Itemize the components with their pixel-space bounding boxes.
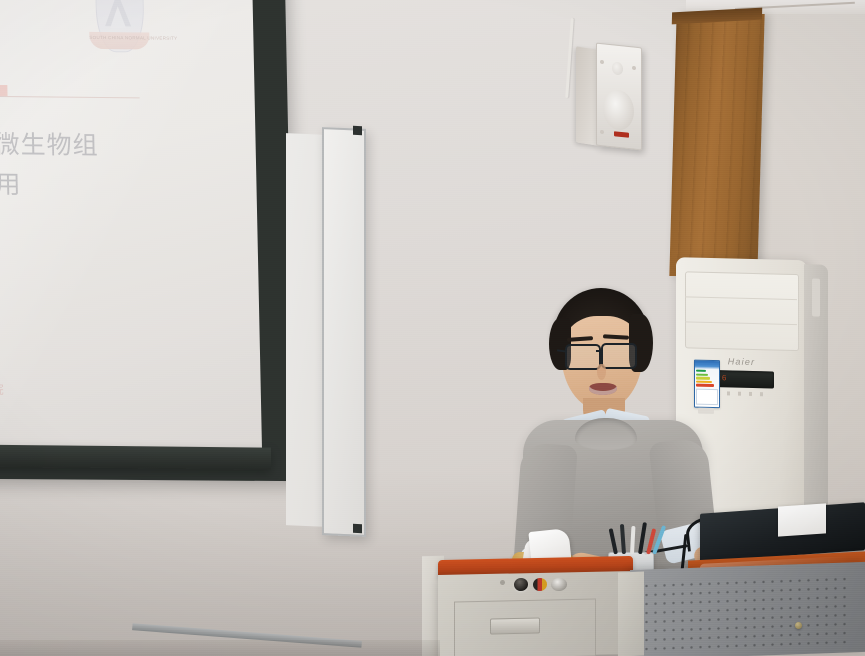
ac-side-vent	[812, 278, 820, 316]
nose	[597, 364, 606, 380]
cabinet-perforation-texture	[642, 574, 852, 655]
mouth	[589, 383, 617, 395]
speaker-tweeter-icon	[612, 61, 623, 75]
projection-screen-bottom-bar	[0, 444, 271, 469]
speaker-screw-icon	[632, 66, 636, 70]
wall-speaker	[576, 42, 646, 147]
whiteboard	[322, 128, 362, 532]
podium-console	[438, 558, 633, 656]
whiteboard-corner-cap	[353, 524, 362, 533]
slide-organization: 大数据研究院	[0, 378, 4, 398]
wood-grain-texture	[669, 14, 764, 276]
wooden-pillar	[669, 14, 764, 276]
glasses-lens-right	[601, 343, 637, 369]
slide-content: 华南师范大学 SOUTH CHINA NORMAL UNIVERSITY 在人体…	[0, 0, 262, 460]
photo-scene: 华南师范大学 SOUTH CHINA NORMAL UNIVERSITY 在人体…	[0, 0, 865, 656]
sweater-neckline	[575, 418, 637, 450]
whiteboard-corner-cap	[353, 126, 362, 135]
shield-chevron-inner-icon	[110, 6, 126, 28]
drawer-handle[interactable]	[490, 617, 540, 634]
whiteboard-left-surface	[286, 133, 326, 527]
paper-sheet	[778, 503, 826, 536]
logo-ribbon-text: SOUTH CHINA NORMAL UNIVERSITY	[89, 35, 149, 41]
slide-accent-bar	[0, 84, 8, 96]
glasses-bridge	[596, 350, 603, 352]
whiteboard-surface	[322, 127, 366, 537]
slide-title-line-2: 中的应用	[0, 164, 22, 201]
university-logo: 华南师范大学 SOUTH CHINA NORMAL UNIVERSITY	[87, 0, 152, 83]
speaker-screw-icon	[600, 60, 604, 64]
ac-temperature-readout: 26	[716, 374, 768, 384]
speaker-screw-icon	[600, 130, 604, 134]
slide-title-line-1: 在人体微生物组	[0, 124, 99, 162]
glasses-lens-left	[565, 344, 601, 370]
floor-shadow	[0, 640, 440, 656]
cabinet-left-panel	[618, 572, 644, 656]
speaker-side-panel	[576, 46, 598, 145]
cabinet-screw-icon	[795, 622, 802, 629]
slide-divider	[0, 95, 140, 98]
